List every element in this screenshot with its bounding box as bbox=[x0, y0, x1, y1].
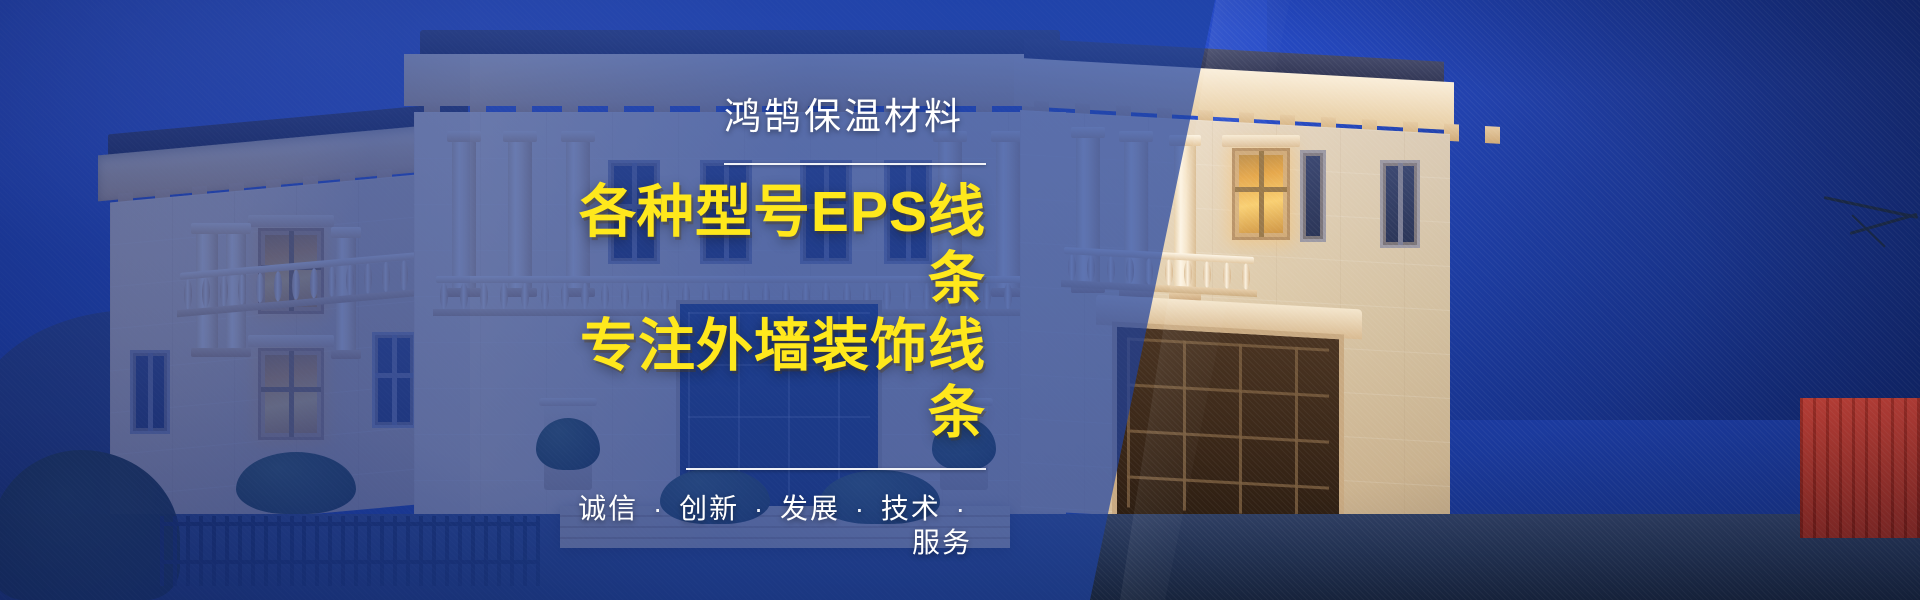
tagline-item: 技术 bbox=[881, 493, 941, 524]
tagline-separator: · bbox=[749, 493, 770, 524]
tagline-item: 发展 bbox=[780, 493, 840, 524]
tagline-separator: · bbox=[951, 493, 972, 524]
tagline: 诚信 · 创新 · 发展 · 技术 · 服务 bbox=[556, 492, 986, 559]
red-container bbox=[1800, 398, 1920, 538]
headline-line-2: 专注外墙装饰线条 bbox=[556, 313, 986, 446]
divider-bottom bbox=[686, 468, 986, 470]
tagline-item: 服务 bbox=[912, 527, 972, 558]
promo-banner: 鸿鹄保温材料 各种型号EPS线条 专注外墙装饰线条 诚信 · 创新 · 发展 ·… bbox=[0, 0, 1920, 600]
tagline-separator: · bbox=[850, 493, 871, 524]
window-glowing bbox=[1232, 148, 1290, 240]
window-dark bbox=[1300, 150, 1326, 242]
tagline-item: 创新 bbox=[679, 493, 739, 524]
headline-line-1: 各种型号EPS线条 bbox=[579, 180, 986, 311]
headline: 各种型号EPS线条 专注外墙装饰线条 bbox=[556, 179, 986, 446]
tagline-separator: · bbox=[648, 493, 669, 524]
garage-door bbox=[1112, 322, 1344, 535]
banner-copy: 鸿鹄保温材料 各种型号EPS线条 专注外墙装饰线条 诚信 · 创新 · 发展 ·… bbox=[556, 96, 986, 559]
tagline-item: 诚信 bbox=[578, 493, 638, 524]
divider-top bbox=[724, 163, 986, 165]
window-dark bbox=[1380, 160, 1420, 248]
company-name: 鸿鹄保温材料 bbox=[556, 96, 986, 137]
